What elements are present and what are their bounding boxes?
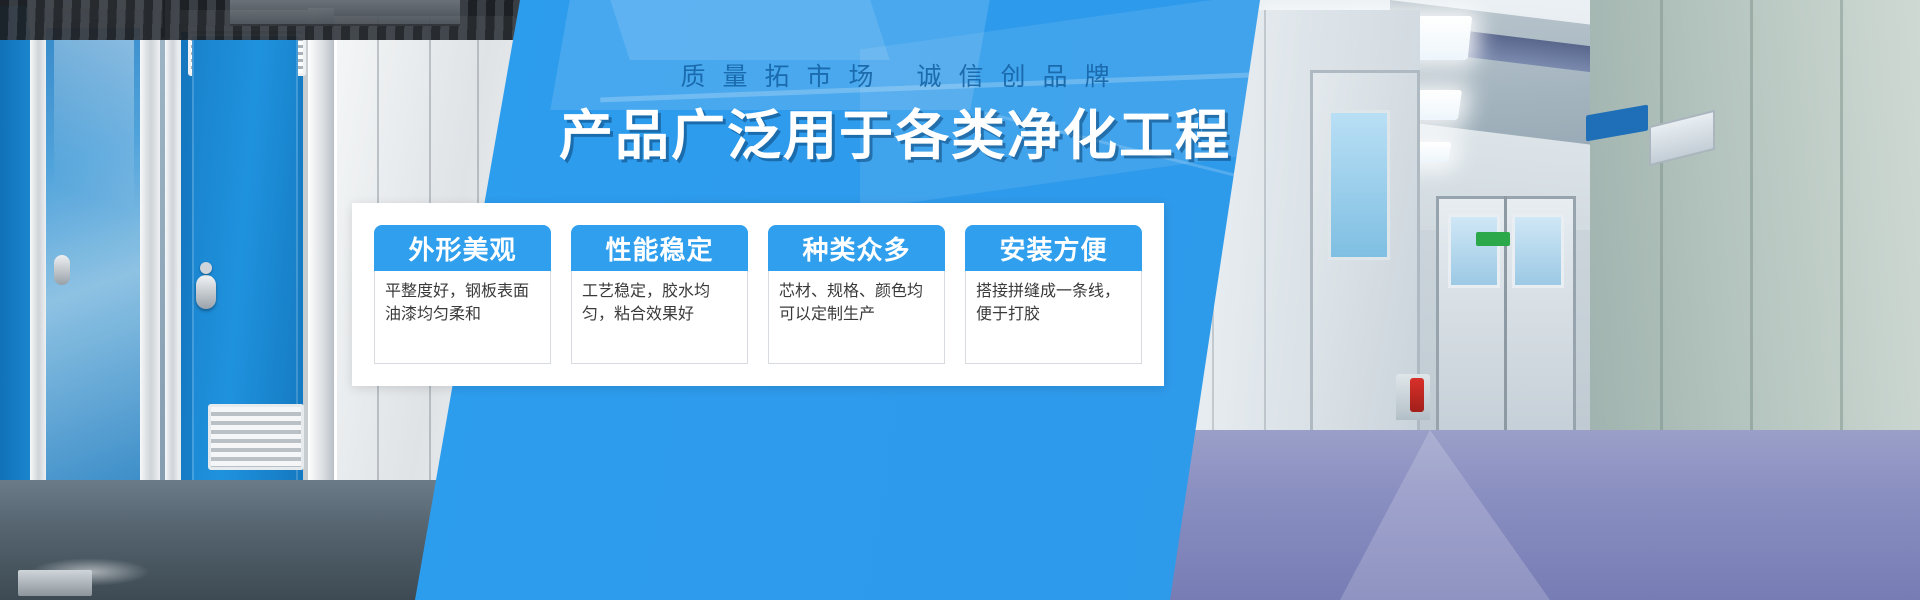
feature-card-3[interactable]: 种类众多 芯材、规格、颜色均可以定制生产: [768, 225, 945, 364]
feature-card-1-title: 外形美观: [374, 225, 551, 271]
door-window: [1328, 110, 1390, 260]
feature-card-4-text: 搭接拼缝成一条线，便于打胶: [965, 271, 1142, 364]
door-handle: [196, 275, 216, 309]
far-door-window: [1448, 214, 1500, 288]
feature-card-1-text: 平整度好，钢板表面油漆均匀柔和: [374, 271, 551, 364]
feature-card-2-title: 性能稳定: [571, 225, 748, 271]
door-lock: [200, 262, 212, 274]
feature-card-3-text: 芯材、规格、颜色均可以定制生产: [768, 271, 945, 364]
corridor-floor: [1160, 430, 1920, 600]
promo-banner: 质量拓市场诚信创品牌 产品广泛用于各类净化工程 外形美观 平整度好，钢板表面油漆…: [0, 0, 1920, 600]
feature-card-4-title: 安装方便: [965, 225, 1142, 271]
feature-card-2[interactable]: 性能稳定 工艺稳定，胶水均匀，粘合效果好: [571, 225, 748, 364]
feature-cards-panel: 外形美观 平整度好，钢板表面油漆均匀柔和 性能稳定 工艺稳定，胶水均匀，粘合效果…: [352, 203, 1164, 386]
exit-sign: [1476, 232, 1510, 246]
pallet: [18, 570, 92, 596]
feature-card-2-text: 工艺稳定，胶水均匀，粘合效果好: [571, 271, 748, 364]
feature-cards-row: 外形美观 平整度好，钢板表面油漆均匀柔和 性能稳定 工艺稳定，胶水均匀，粘合效果…: [352, 203, 1164, 386]
feature-card-3-title: 种类众多: [768, 225, 945, 271]
feature-card-4[interactable]: 安装方便 搭接拼缝成一条线，便于打胶: [965, 225, 1142, 364]
secondary-door-handle: [54, 255, 70, 285]
far-door-window: [1512, 214, 1564, 288]
door-louver-vent: [208, 404, 304, 470]
fire-extinguisher: [1410, 378, 1424, 412]
feature-card-1[interactable]: 外形美观 平整度好，钢板表面油漆均匀柔和: [374, 225, 551, 364]
right-cleanroom-photo: [1160, 0, 1920, 600]
